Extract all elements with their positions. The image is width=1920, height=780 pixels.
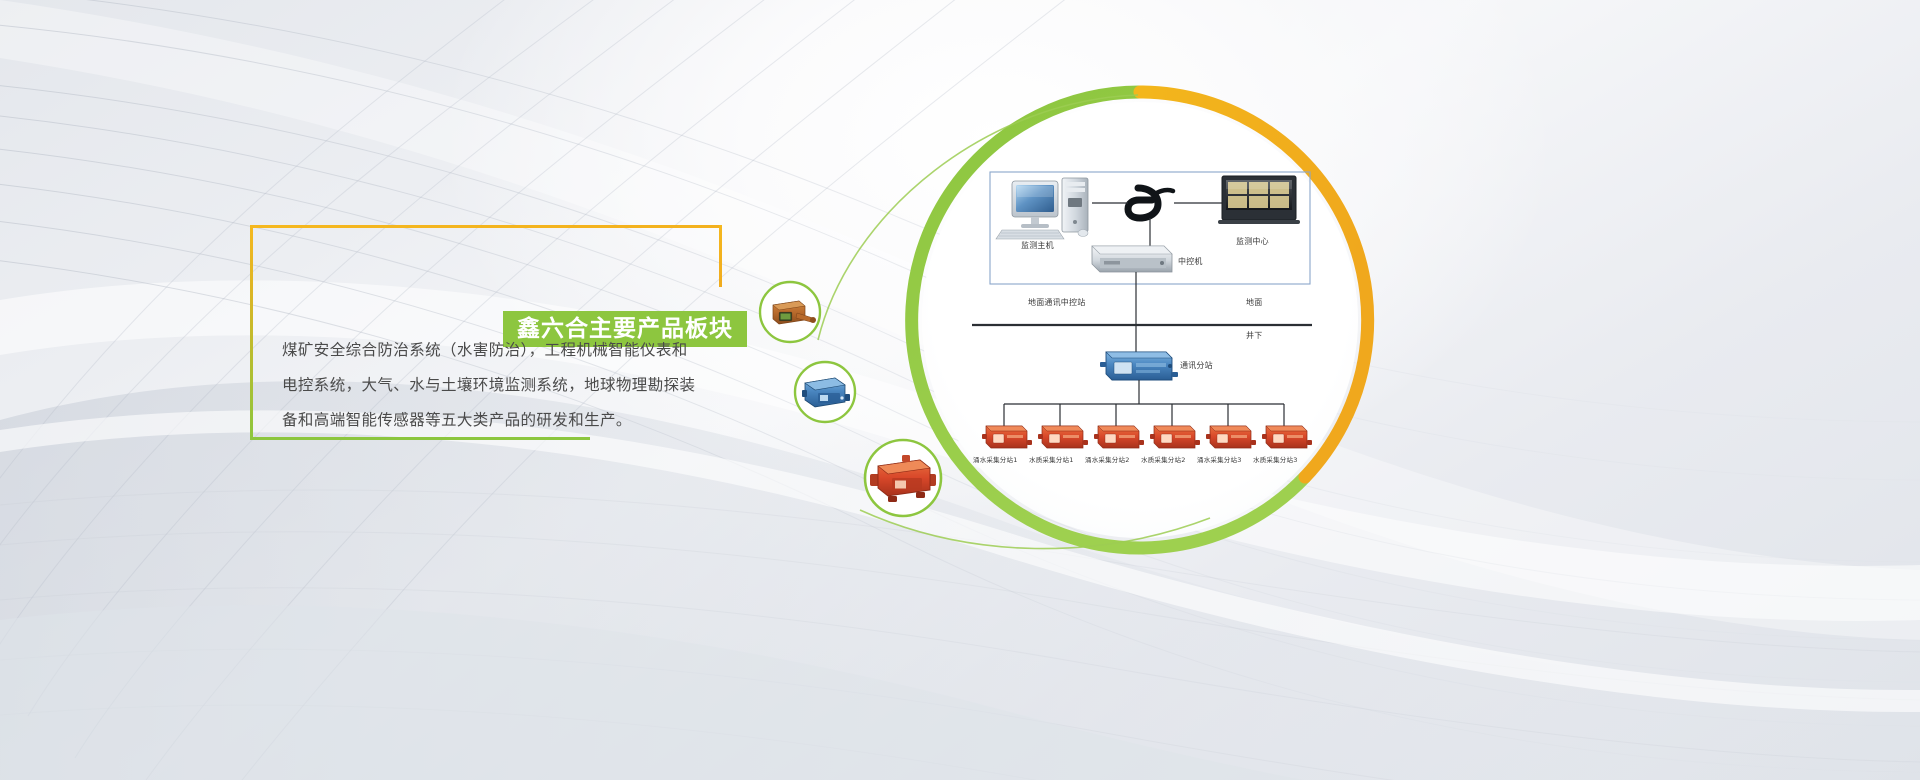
panel-frame-top [250, 225, 722, 228]
label-ground-comm-substation: 地面通讯中控站 [1028, 297, 1085, 308]
label-station-1: 涌水采集分站1 [973, 454, 1018, 464]
diagram-graphics [740, 40, 1380, 580]
label-station-5: 涌水采集分站3 [1197, 454, 1242, 464]
paragraph-line-2: 电控系统，大气、水与土壤环境监测系统，地球物理勘探装 [282, 368, 707, 403]
panel-paragraph: 煤矿安全综合防治系统（水害防治），工程机械智能仪表和 电控系统，大气、水与土壤环… [282, 333, 707, 438]
label-comm-substation: 通讯分站 [1180, 360, 1213, 371]
label-station-2: 水质采集分站1 [1029, 454, 1074, 464]
paragraph-line-1: 煤矿安全综合防治系统（水害防治），工程机械智能仪表和 [282, 333, 707, 368]
label-station-3: 涌水采集分站2 [1085, 454, 1130, 464]
label-underground: 井下 [1246, 330, 1262, 341]
label-station-4: 水质采集分站2 [1141, 454, 1186, 464]
panel-frame-right [719, 225, 722, 287]
label-monitor-host: 监测主机 [1021, 240, 1054, 251]
label-station-6: 水质采集分站3 [1253, 454, 1298, 464]
paragraph-line-3: 备和高端智能传感器等五大类产品的研发和生产。 [282, 403, 707, 438]
label-ground: 地面 [1246, 297, 1262, 308]
label-central-controller: 中控机 [1178, 256, 1203, 267]
panel-frame-left [250, 225, 253, 440]
system-diagram: 监测主机 监测中心 中控机 地面通讯中控站 地面 井下 通讯分站 涌水采集分站1… [740, 40, 1380, 580]
label-monitor-center: 监测中心 [1236, 236, 1269, 247]
